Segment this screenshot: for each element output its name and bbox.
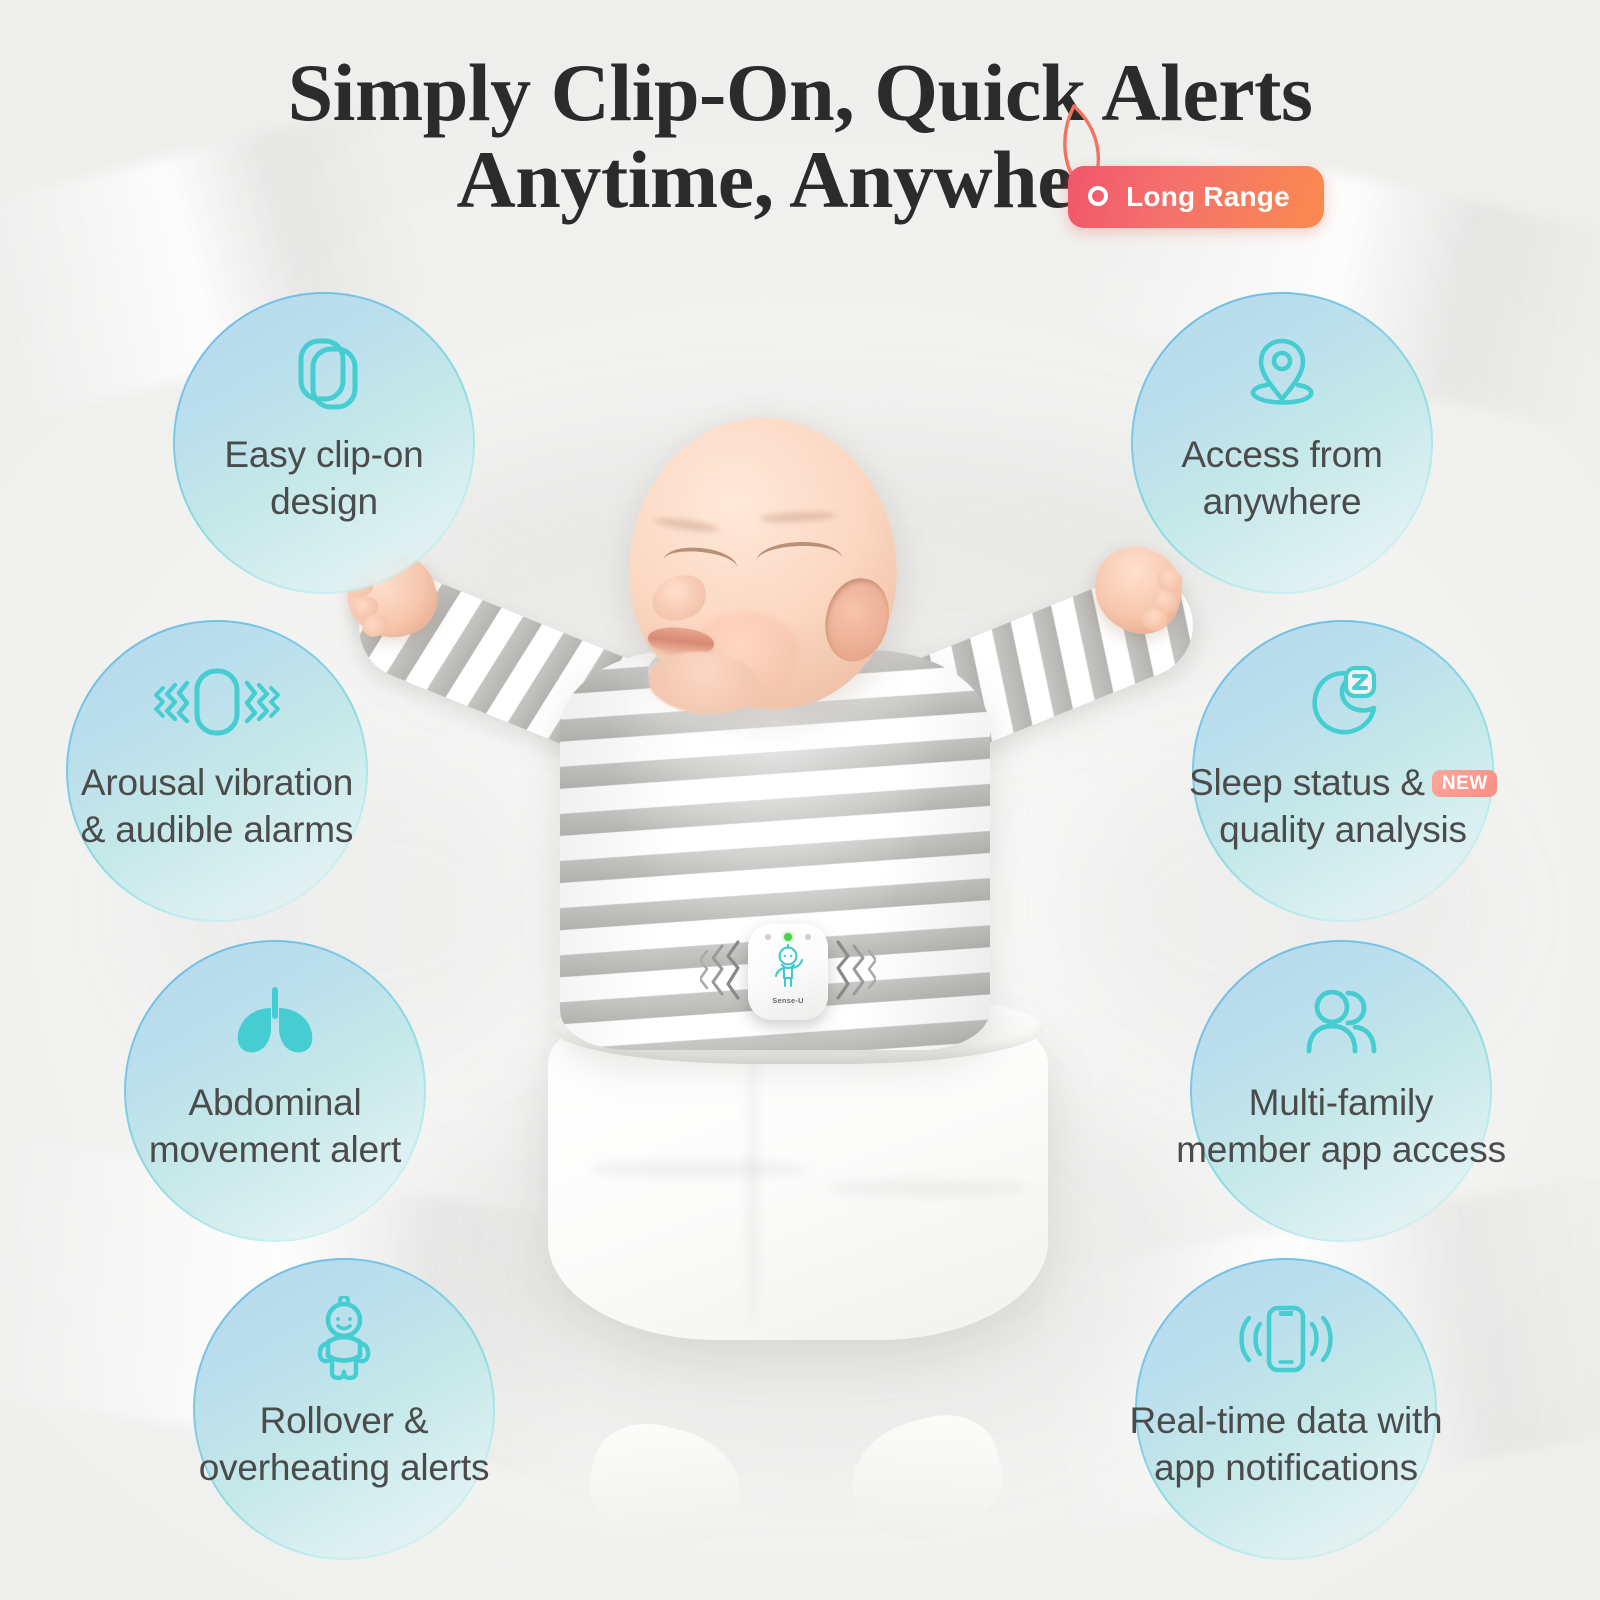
- feature-rollover-overheating[interactable]: Rollover & overheating alerts: [193, 1258, 495, 1560]
- lungs-icon: [124, 974, 426, 1070]
- feature-sleep-status[interactable]: Sleep status &NEW quality analysis: [1192, 620, 1494, 922]
- status-led-icon: [784, 933, 792, 941]
- location-pin-icon: [1131, 326, 1433, 422]
- feature-label-line: quality analysis: [1132, 807, 1554, 854]
- feature-abdominal-movement[interactable]: Abdominal movement alert: [124, 940, 426, 1242]
- feature-label-line: member app access: [1120, 1127, 1562, 1174]
- feature-access-from-anywhere[interactable]: Access from anywhere: [1131, 292, 1433, 594]
- feature-label-line: Easy clip-on: [133, 432, 515, 479]
- tag-hole-icon: [1088, 186, 1108, 206]
- feature-label-text: Sleep status &: [1189, 762, 1425, 803]
- vibration-lines-right: [830, 938, 876, 1004]
- feature-label-line: Rollover &: [138, 1398, 550, 1445]
- feature-label-line: overheating alerts: [138, 1445, 550, 1492]
- baby-icon: [193, 1292, 495, 1388]
- feature-label: Rollover & overheating alerts: [138, 1398, 550, 1491]
- new-badge: NEW: [1432, 770, 1497, 797]
- battery-led-icon: [765, 934, 771, 940]
- feature-multi-family-access[interactable]: Multi-family member app access: [1190, 940, 1492, 1242]
- feature-label-line: Real-time data with: [1070, 1398, 1502, 1445]
- feature-label: Sleep status &NEW quality analysis: [1132, 760, 1554, 853]
- feature-label: Real-time data with app notifications: [1070, 1398, 1502, 1491]
- feature-label-line: Abdominal: [64, 1080, 486, 1127]
- moon-z-icon: [1192, 654, 1494, 750]
- feature-realtime-notifications[interactable]: Real-time data with app notifications: [1135, 1258, 1437, 1560]
- feature-label: Access from anywhere: [1091, 432, 1473, 525]
- device-led-row: [765, 933, 811, 941]
- long-range-tag-label: Long Range: [1102, 181, 1290, 213]
- feature-label-line: app notifications: [1070, 1445, 1502, 1492]
- feature-label-line: movement alert: [64, 1127, 486, 1174]
- feature-label-line: design: [133, 479, 515, 526]
- feature-label: Multi-family member app access: [1120, 1080, 1562, 1173]
- feature-easy-clip-on[interactable]: Easy clip-on design: [173, 292, 475, 594]
- page-title: Simply Clip-On, Quick Alerts Anytime, An…: [0, 50, 1600, 224]
- headline-line-2: Anytime, Anywhere: [457, 137, 1144, 224]
- feature-label: Arousal vibration & audible alarms: [6, 760, 428, 853]
- sense-u-monitor-device[interactable]: Sense-U: [748, 924, 828, 1020]
- feature-label-line: Sleep status &NEW: [1132, 760, 1554, 807]
- infographic-canvas: Sense-U Simply Clip-On, Quick Alerts Any…: [0, 0, 1600, 1600]
- feature-arousal-vibration[interactable]: Arousal vibration & audible alarms: [66, 620, 368, 922]
- feature-label-line: Arousal vibration: [6, 760, 428, 807]
- feature-label-line: Access from: [1091, 432, 1473, 479]
- device-brand-label: Sense-U: [772, 996, 803, 1005]
- clip-on-device-icon: [173, 326, 475, 422]
- phone-vibrating-icon: [1135, 1292, 1437, 1388]
- bluetooth-led-icon: [805, 934, 811, 940]
- headline-line-1: Simply Clip-On, Quick Alerts: [0, 50, 1600, 137]
- feature-label: Easy clip-on design: [133, 432, 515, 525]
- feature-label-line: anywhere: [1091, 479, 1473, 526]
- feature-label-line: & audible alarms: [6, 807, 428, 854]
- users-icon: [1190, 974, 1492, 1070]
- vibrating-device-icon: [66, 654, 368, 750]
- feature-label: Abdominal movement alert: [64, 1080, 486, 1173]
- vibration-lines-left: [700, 938, 746, 1004]
- baby-logo-icon: [766, 944, 810, 995]
- feature-label-line: Multi-family: [1120, 1080, 1562, 1127]
